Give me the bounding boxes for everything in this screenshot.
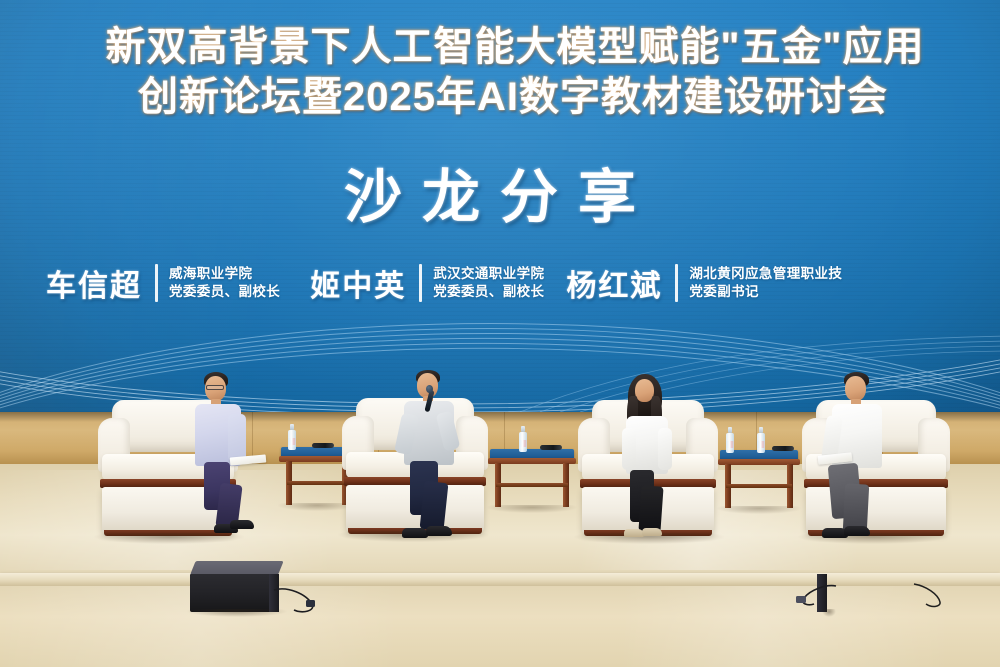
session-title: 沙龙分享 — [0, 150, 1000, 234]
arm-right — [658, 428, 672, 470]
event-title-block: 新双高背景下人工智能大模型赋能"五金"应用 创新论坛暨2025年AI数字教材建设… — [0, 22, 1000, 122]
stage-edge-lip — [0, 573, 1000, 586]
shoe-right — [642, 528, 662, 536]
speaker-affiliation: 威海职业学院 党委委员、副校长 — [169, 265, 280, 301]
speaker-affiliation-line-1: 湖北黄冈应急管理职业技 — [689, 265, 842, 283]
table-microphone-1 — [312, 443, 334, 448]
speaker-name: 姬中英 — [310, 261, 406, 305]
leg-right — [420, 481, 449, 531]
monitor-cable-3 — [912, 580, 954, 610]
panelist-2 — [396, 370, 492, 546]
speaker-divider — [675, 264, 678, 302]
shoe-left — [402, 528, 428, 538]
event-title-line-1: 新双高背景下人工智能大模型赋能"五金"应用 — [30, 22, 1000, 72]
microphone-head-icon — [426, 385, 433, 393]
speaker-divider — [419, 264, 422, 302]
speaker-affiliation-line-1: 威海职业学院 — [169, 265, 280, 283]
speaker-affiliation: 武汉交通职业学院 党委委员、副校长 — [433, 265, 544, 301]
water-bottle-3 — [726, 427, 734, 453]
panelist-3 — [614, 374, 702, 546]
speaker-credits-strip: 车信超 威海职业学院 党委委员、副校长 姬中英 武汉交通职业学院 党委委员、副校… — [0, 252, 1000, 314]
side-table-2 — [490, 449, 574, 513]
speaker-credit-3: 杨红斌 湖北黄冈应急管理职业技 党委副书记 — [566, 261, 842, 305]
shoe-right — [426, 526, 452, 536]
monitor-cable-1 — [272, 584, 334, 616]
water-bottle-2 — [519, 426, 527, 452]
apron-light-reflection — [0, 586, 1000, 667]
leg-right — [638, 485, 663, 532]
stage-monitor-1 — [190, 561, 278, 617]
speaker-affiliation-line-2: 党委副书记 — [689, 283, 842, 301]
speaker-credit-1: 车信超 威海职业学院 党委委员、副校长 — [46, 261, 280, 305]
held-papers — [230, 454, 267, 465]
side-table-3 — [720, 450, 798, 514]
speaker-affiliation-line-1: 武汉交通职业学院 — [433, 265, 544, 283]
arm-right — [228, 414, 246, 462]
speaker-divider — [155, 264, 158, 302]
shoe-right — [230, 520, 254, 529]
conference-stage-photo: 新双高背景下人工智能大模型赋能"五金"应用 创新论坛暨2025年AI数字教材建设… — [0, 0, 1000, 667]
event-title-line-2: 创新论坛暨2025年AI数字教材建设研讨会 — [26, 72, 1000, 122]
head — [845, 376, 866, 401]
eyeglasses-icon — [206, 385, 224, 390]
speaker-credit-2: 姬中英 武汉交通职业学院 党委委员、副校长 — [310, 261, 544, 305]
panelist-1 — [186, 372, 276, 542]
shoe-left — [624, 529, 644, 537]
panelist-4 — [822, 372, 914, 546]
speaker-name: 车信超 — [46, 261, 142, 305]
speaker-affiliation-line-2: 党委委员、副校长 — [169, 283, 280, 301]
table-microphone-2 — [540, 445, 562, 450]
shoe-right — [844, 526, 870, 536]
monitor-cable-2 — [790, 582, 838, 612]
speaker-affiliation-line-2: 党委委员、副校长 — [433, 283, 544, 301]
arm-left — [622, 428, 636, 470]
speaker-name: 杨红斌 — [566, 261, 662, 305]
speaker-affiliation: 湖北黄冈应急管理职业技 党委副书记 — [689, 265, 842, 301]
water-bottle-1 — [288, 424, 296, 450]
table-microphone-3 — [772, 446, 794, 451]
led-backdrop-screen: 新双高背景下人工智能大模型赋能"五金"应用 创新论坛暨2025年AI数字教材建设… — [0, 0, 1000, 412]
water-bottle-4 — [757, 427, 765, 453]
